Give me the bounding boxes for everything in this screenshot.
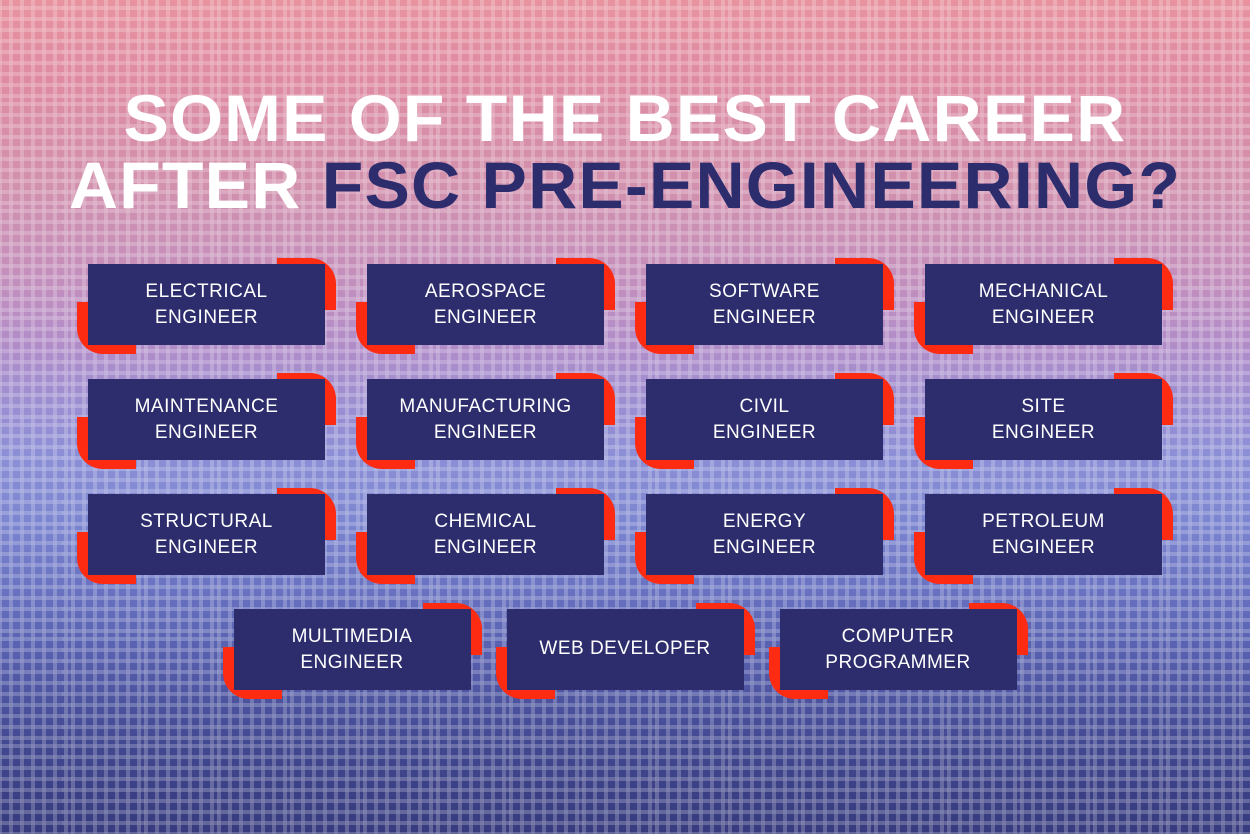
career-card-line-2: ENGINEER <box>713 305 816 330</box>
career-card-line-1: SITE <box>1021 394 1065 419</box>
career-card-body[interactable]: MAINTENANCE ENGINEER <box>88 379 325 460</box>
career-card-line-1: SOFTWARE <box>709 279 820 304</box>
career-card[interactable]: ELECTRICAL ENGINEER <box>88 264 325 345</box>
career-card[interactable]: STRUCTURAL ENGINEER <box>88 494 325 575</box>
career-card-body[interactable]: ELECTRICAL ENGINEER <box>88 264 325 345</box>
career-card-line-2: ENGINEER <box>713 535 816 560</box>
career-infographic-poster: SOME OF THE BEST CAREER AFTER FSC PRE-EN… <box>0 0 1250 834</box>
career-card-line-1: COMPUTER <box>842 624 955 649</box>
career-card[interactable]: MAINTENANCE ENGINEER <box>88 379 325 460</box>
career-card-line-2: ENGINEER <box>992 305 1095 330</box>
career-card[interactable]: SOFTWARE ENGINEER <box>646 264 883 345</box>
career-card[interactable]: AEROSPACE ENGINEER <box>367 264 604 345</box>
career-card[interactable]: CIVIL ENGINEER <box>646 379 883 460</box>
title-line-1: SOME OF THE BEST CAREER <box>0 88 1250 149</box>
career-card-line-2: ENGINEER <box>992 420 1095 445</box>
career-card[interactable]: MANUFACTURING ENGINEER <box>367 379 604 460</box>
career-card[interactable]: SITE ENGINEER <box>925 379 1162 460</box>
career-card-body[interactable]: WEB DEVELOPER <box>507 609 744 690</box>
career-card-line-2: ENGINEER <box>434 305 537 330</box>
career-card-line-1: MANUFACTURING <box>399 394 571 419</box>
career-card[interactable]: MULTIMEDIA ENGINEER <box>234 609 471 690</box>
career-card-line-1: CIVIL <box>739 394 789 419</box>
career-card-grid: ELECTRICAL ENGINEER AEROSPACE ENGINEER S… <box>0 264 1250 690</box>
career-card-body[interactable]: COMPUTER PROGRAMMER <box>780 609 1017 690</box>
career-card[interactable]: COMPUTER PROGRAMMER <box>780 609 1017 690</box>
career-card-body[interactable]: STRUCTURAL ENGINEER <box>88 494 325 575</box>
career-card-line-1: PETROLEUM <box>982 509 1105 534</box>
career-card-line-2: PROGRAMMER <box>825 650 970 675</box>
career-card[interactable]: MECHANICAL ENGINEER <box>925 264 1162 345</box>
career-card-line-1: MECHANICAL <box>979 279 1109 304</box>
career-card[interactable]: CHEMICAL ENGINEER <box>367 494 604 575</box>
career-card-line-1: ENERGY <box>723 509 806 534</box>
title-line-2: AFTER FSC PRE-ENGINEERING? <box>0 155 1250 216</box>
career-card-line-2: ENGINEER <box>434 420 537 445</box>
career-card[interactable]: WEB DEVELOPER <box>507 609 744 690</box>
career-card-line-2: ENGINEER <box>155 535 258 560</box>
card-row: MAINTENANCE ENGINEER MANUFACTURING ENGIN… <box>0 379 1250 460</box>
career-card-line-1: WEB DEVELOPER <box>539 639 710 660</box>
career-card[interactable]: ENERGY ENGINEER <box>646 494 883 575</box>
career-card-line-2: ENGINEER <box>300 650 403 675</box>
career-card-line-1: STRUCTURAL <box>140 509 273 534</box>
career-card-body[interactable]: MANUFACTURING ENGINEER <box>367 379 604 460</box>
career-card-line-1: CHEMICAL <box>434 509 536 534</box>
career-card-line-2: ENGINEER <box>155 305 258 330</box>
career-card-body[interactable]: CHEMICAL ENGINEER <box>367 494 604 575</box>
career-card-body[interactable]: AEROSPACE ENGINEER <box>367 264 604 345</box>
career-card-body[interactable]: ENERGY ENGINEER <box>646 494 883 575</box>
card-row: ELECTRICAL ENGINEER AEROSPACE ENGINEER S… <box>0 264 1250 345</box>
career-card-line-2: ENGINEER <box>434 535 537 560</box>
career-card-body[interactable]: PETROLEUM ENGINEER <box>925 494 1162 575</box>
career-card-body[interactable]: MECHANICAL ENGINEER <box>925 264 1162 345</box>
career-card-line-1: MAINTENANCE <box>135 394 279 419</box>
career-card-line-1: AEROSPACE <box>425 279 546 304</box>
page-title: SOME OF THE BEST CAREER AFTER FSC PRE-EN… <box>0 88 1250 217</box>
career-card-body[interactable]: SOFTWARE ENGINEER <box>646 264 883 345</box>
career-card-body[interactable]: MULTIMEDIA ENGINEER <box>234 609 471 690</box>
card-row: STRUCTURAL ENGINEER CHEMICAL ENGINEER EN… <box>0 494 1250 575</box>
title-line-2-highlight: FSC PRE-ENGINEERING? <box>322 148 1181 222</box>
career-card-body[interactable]: CIVIL ENGINEER <box>646 379 883 460</box>
career-card[interactable]: PETROLEUM ENGINEER <box>925 494 1162 575</box>
career-card-line-1: MULTIMEDIA <box>292 624 413 649</box>
career-card-line-2: ENGINEER <box>713 420 816 445</box>
career-card-body[interactable]: SITE ENGINEER <box>925 379 1162 460</box>
career-card-line-2: ENGINEER <box>155 420 258 445</box>
title-line-2-white: AFTER <box>69 148 322 222</box>
card-row: MULTIMEDIA ENGINEER WEB DEVELOPER COMPUT… <box>0 609 1250 690</box>
career-card-line-1: ELECTRICAL <box>145 279 267 304</box>
career-card-line-2: ENGINEER <box>992 535 1095 560</box>
